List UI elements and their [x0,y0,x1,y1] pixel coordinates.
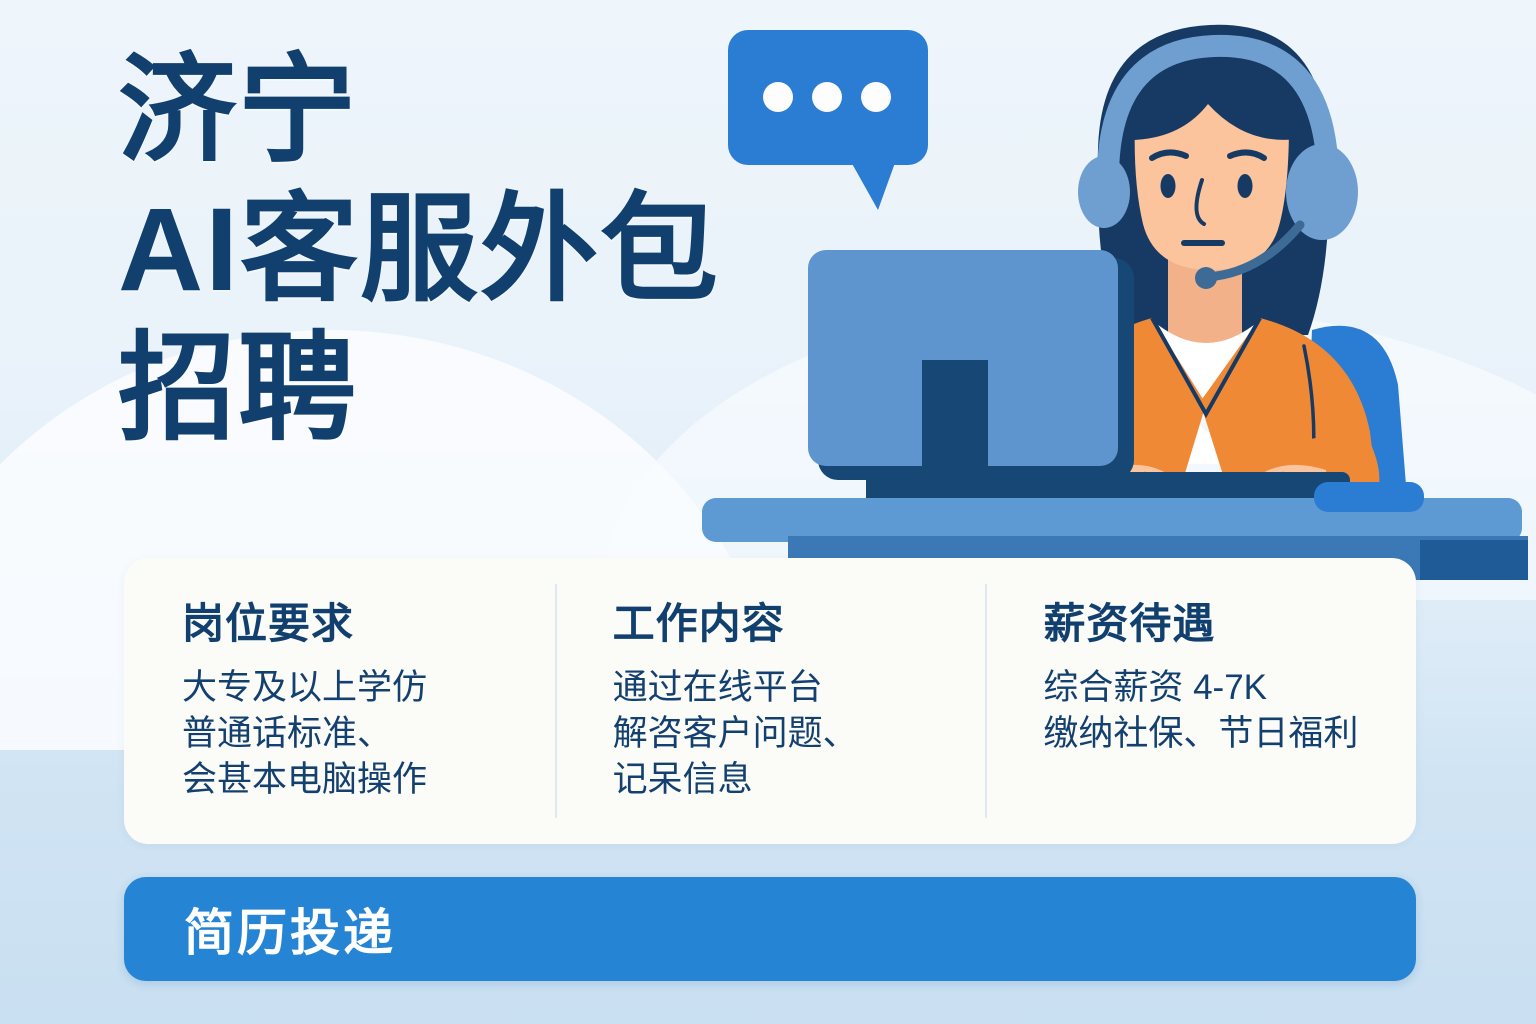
card-line: 通过在线平台 [613,665,960,711]
recruitment-poster: 济宁 AI客服外包 招聘 [0,0,1536,1024]
headset-earcup-left-icon [1078,156,1130,228]
card-line: 缴纳社保、节日福利 [1043,711,1390,757]
card-line: 解咨客户问题、 [613,711,960,757]
headset-mic-tip-icon [1195,267,1217,289]
chair-seat [1314,482,1424,512]
card-job-requirements: 岗位要求 大专及以上学仿 普通话标准、 会甚本电脑操作 [124,558,555,844]
card-job-content: 工作内容 通过在线平台 解咨客户问题、 记呆信息 [555,558,986,844]
resume-submission-bar[interactable]: 简历投递 [124,877,1416,981]
card-title-salary-benefits: 薪资待遇 [1043,590,1390,651]
keyboard [1040,472,1350,502]
card-title-job-content: 工作内容 [613,590,960,651]
monitor-stand [922,360,988,484]
card-salary-benefits: 薪资待遇 综合薪资 4-7K 缴纳社保、节日福利 [985,558,1416,844]
card-title-job-requirements: 岗位要求 [182,590,529,651]
eye-right [1238,174,1253,198]
card-line: 普通话标准、 [182,711,529,757]
title-line-1: 济宁 [118,42,878,181]
monitor-base [866,474,1042,502]
title-line-3: 招聘 [118,320,878,459]
page-title: 济宁 AI客服外包 招聘 [118,42,878,460]
resume-submission-label: 简历投递 [184,893,396,965]
desk-front-shadow [1420,540,1528,580]
eye-left [1161,174,1176,198]
card-line: 记呆信息 [613,757,960,803]
title-line-2: AI客服外包 [118,181,878,320]
card-line: 大专及以上学仿 [182,665,529,711]
card-line: 综合薪资 4-7K [1043,665,1390,711]
info-cards-panel: 岗位要求 大专及以上学仿 普通话标准、 会甚本电脑操作 工作内容 通过在线平台 … [124,558,1416,844]
card-line: 会甚本电脑操作 [182,757,529,803]
